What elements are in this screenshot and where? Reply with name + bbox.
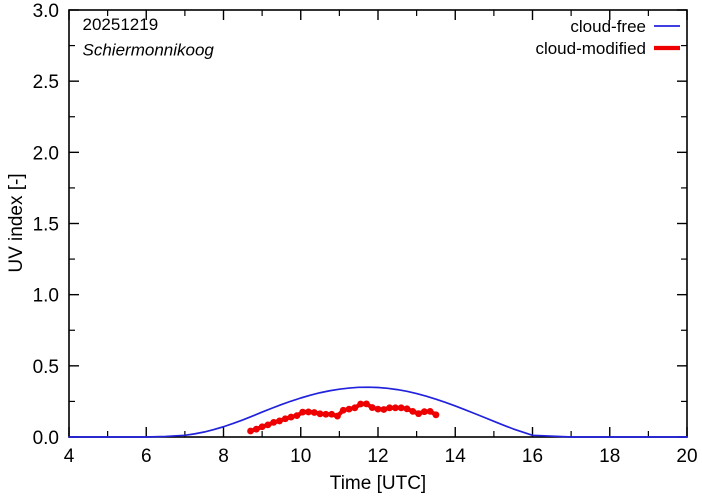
data-point-cloud-modified (259, 423, 266, 430)
data-point-cloud-modified (340, 407, 347, 414)
data-point-cloud-modified (346, 406, 353, 413)
legend-label-cloud-free: cloud-free (570, 17, 646, 36)
data-point-cloud-modified (305, 409, 312, 416)
data-point-cloud-modified (276, 418, 283, 425)
annotation-date: 20251219 (83, 15, 159, 34)
x-tick-label: 16 (522, 446, 543, 467)
y-tick-label: 2.0 (33, 143, 59, 164)
uv-index-chart: 4681012141618200.00.51.01.52.02.53.0 Tim… (0, 0, 702, 497)
x-axis-label: Time [UTC] (330, 473, 426, 494)
x-tick-label: 4 (64, 446, 75, 467)
x-tick-label: 12 (367, 446, 388, 467)
data-point-cloud-modified (328, 411, 335, 418)
data-point-cloud-modified (380, 406, 387, 413)
data-point-cloud-modified (247, 428, 254, 435)
data-point-cloud-modified (282, 415, 289, 422)
data-point-cloud-modified (386, 404, 393, 411)
data-point-cloud-modified (415, 410, 422, 417)
data-point-cloud-modified (317, 410, 324, 417)
data-point-cloud-modified (433, 411, 440, 418)
y-tick-label: 0.0 (33, 428, 59, 449)
x-tick-label: 8 (218, 446, 229, 467)
data-point-cloud-modified (322, 411, 329, 418)
data-point-cloud-modified (427, 408, 434, 415)
plot-canvas: 4681012141618200.00.51.01.52.02.53.0 Tim… (0, 0, 702, 497)
y-tick-label: 1.5 (33, 215, 59, 236)
data-point-cloud-modified (351, 404, 358, 411)
data-point-cloud-modified (404, 405, 411, 412)
legend-label-cloud-modified: cloud-modified (535, 39, 646, 58)
data-point-cloud-modified (363, 400, 370, 407)
annotation-station: Schiermonnikoog (83, 41, 215, 60)
x-tick-label: 10 (290, 446, 311, 467)
data-point-cloud-modified (270, 419, 277, 426)
chart-background (0, 0, 702, 497)
data-point-cloud-modified (421, 408, 428, 415)
y-tick-label: 3.0 (33, 1, 59, 22)
data-point-cloud-modified (253, 426, 260, 433)
data-point-cloud-modified (334, 413, 341, 420)
data-point-cloud-modified (398, 404, 405, 411)
data-point-cloud-modified (265, 422, 272, 429)
data-point-cloud-modified (293, 412, 300, 419)
x-tick-label: 20 (676, 446, 697, 467)
x-tick-label: 18 (599, 446, 620, 467)
y-axis-label: UV index [-] (6, 173, 27, 272)
data-point-cloud-modified (288, 414, 295, 421)
y-tick-label: 0.5 (33, 357, 59, 378)
data-point-cloud-modified (299, 409, 306, 416)
data-point-cloud-modified (311, 409, 318, 416)
y-tick-label: 2.5 (33, 72, 59, 93)
data-point-cloud-modified (369, 404, 376, 411)
x-tick-label: 14 (445, 446, 467, 467)
data-point-cloud-modified (357, 401, 364, 408)
y-tick-label: 1.0 (33, 286, 59, 307)
data-point-cloud-modified (409, 408, 416, 415)
data-point-cloud-modified (375, 406, 382, 413)
data-point-cloud-modified (392, 404, 399, 411)
x-tick-label: 6 (141, 446, 152, 467)
